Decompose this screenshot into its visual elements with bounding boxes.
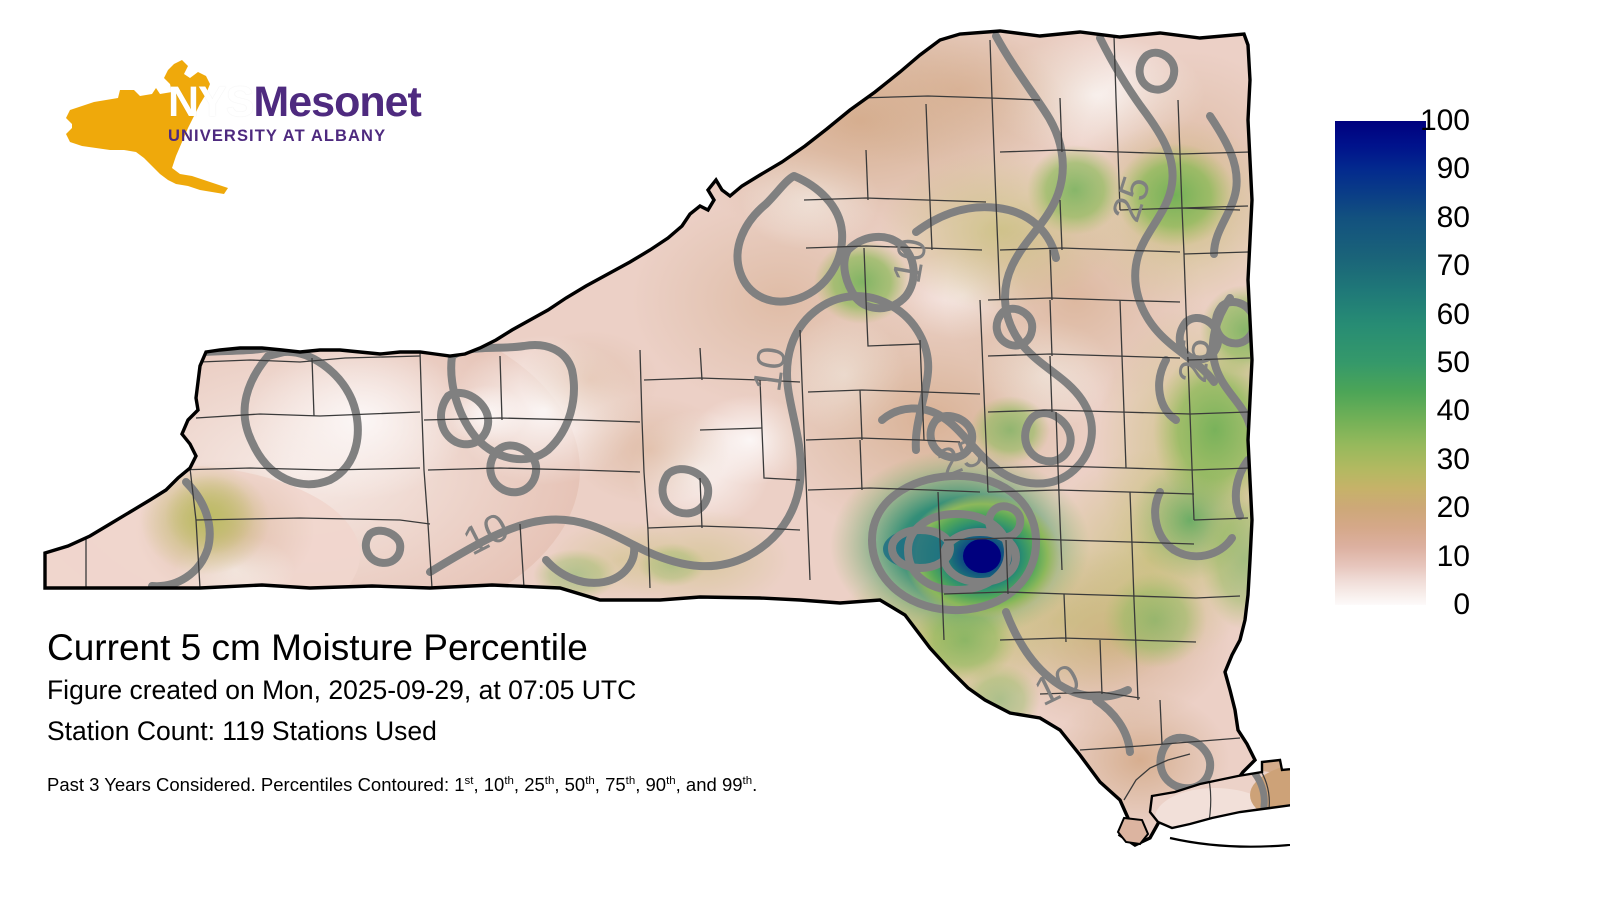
creation-timestamp: Figure created on Mon, 2025-09-29, at 07… [47, 670, 1007, 711]
colorbar-tick-80: 80 [1350, 203, 1470, 233]
footnote-lead: Past 3 Years Considered. Percentiles Con… [47, 774, 454, 795]
footnote-ordinal: th [666, 775, 676, 787]
footnote-separator: . [752, 774, 757, 795]
footnote-separator: , and [676, 774, 722, 795]
contour-label: 10 [885, 235, 936, 286]
footnote-percentile: 90th [646, 774, 676, 795]
colorbar-tick-90: 90 [1350, 154, 1470, 184]
footnote-separator: , [595, 774, 605, 795]
nyc-area [1118, 818, 1148, 844]
colorbar-tick-10: 10 [1350, 542, 1470, 572]
contour-label: 10 [745, 344, 795, 394]
logo-mesonet-text: Mesonet [253, 78, 420, 126]
footnote-percentile: 25th [524, 774, 554, 795]
colorbar-tick-30: 30 [1350, 445, 1470, 475]
footnote-ordinal: th [626, 775, 636, 787]
page-title: Current 5 cm Moisture Percentile [47, 626, 1007, 670]
footnote-percentile: 99th [722, 774, 752, 795]
logo-nys-text: NYS [168, 78, 253, 126]
logo-main-line: NYSMesonet [168, 80, 398, 124]
footnote-ordinal: th [504, 775, 514, 787]
colorbar-tick-60: 60 [1350, 300, 1470, 330]
colorbar-tick-0: 0 [1350, 590, 1470, 620]
contour-label: 25 [1171, 336, 1219, 385]
logo-wordmark: NYSMesonet UNIVERSITY AT ALBANY [168, 80, 398, 146]
footnote-ordinal: th [545, 775, 555, 787]
colorbar-tick-labels: 1009080706050403020100 [1340, 100, 1470, 630]
footnote-percentile: 10th [484, 774, 514, 795]
colorbar-tick-100: 100 [1350, 106, 1470, 136]
logo-subtitle: UNIVERSITY AT ALBANY [168, 127, 398, 146]
nys-mesonet-logo[interactable]: NYSMesonet UNIVERSITY AT ALBANY [48, 58, 398, 198]
colorbar-tick-40: 40 [1350, 396, 1470, 426]
station-count: Station Count: 119 Stations Used [47, 711, 1007, 752]
colorbar-tick-50: 50 [1350, 348, 1470, 378]
figure-canvas: 25 10 10 25 25 10 10 NYSMesonet UNIVERSI… [0, 0, 1600, 900]
footnote-ordinal: th [585, 775, 595, 787]
footnote: Past 3 Years Considered. Percentiles Con… [47, 774, 1007, 796]
staten-island [1118, 818, 1148, 844]
footnote-percentile: 1st [454, 774, 473, 795]
footnote-separator: , [635, 774, 645, 795]
footnote-percentile: 50th [565, 774, 595, 795]
colorbar-tick-20: 20 [1350, 493, 1470, 523]
footnote-separator: , [473, 774, 483, 795]
caption-block: Current 5 cm Moisture Percentile Figure … [47, 626, 1007, 796]
footnote-separator: , [554, 774, 564, 795]
colorbar-tick-70: 70 [1350, 251, 1470, 281]
footnote-separator: , [514, 774, 524, 795]
footnote-ordinal: th [743, 775, 753, 787]
footnote-percentile: 75th [605, 774, 635, 795]
